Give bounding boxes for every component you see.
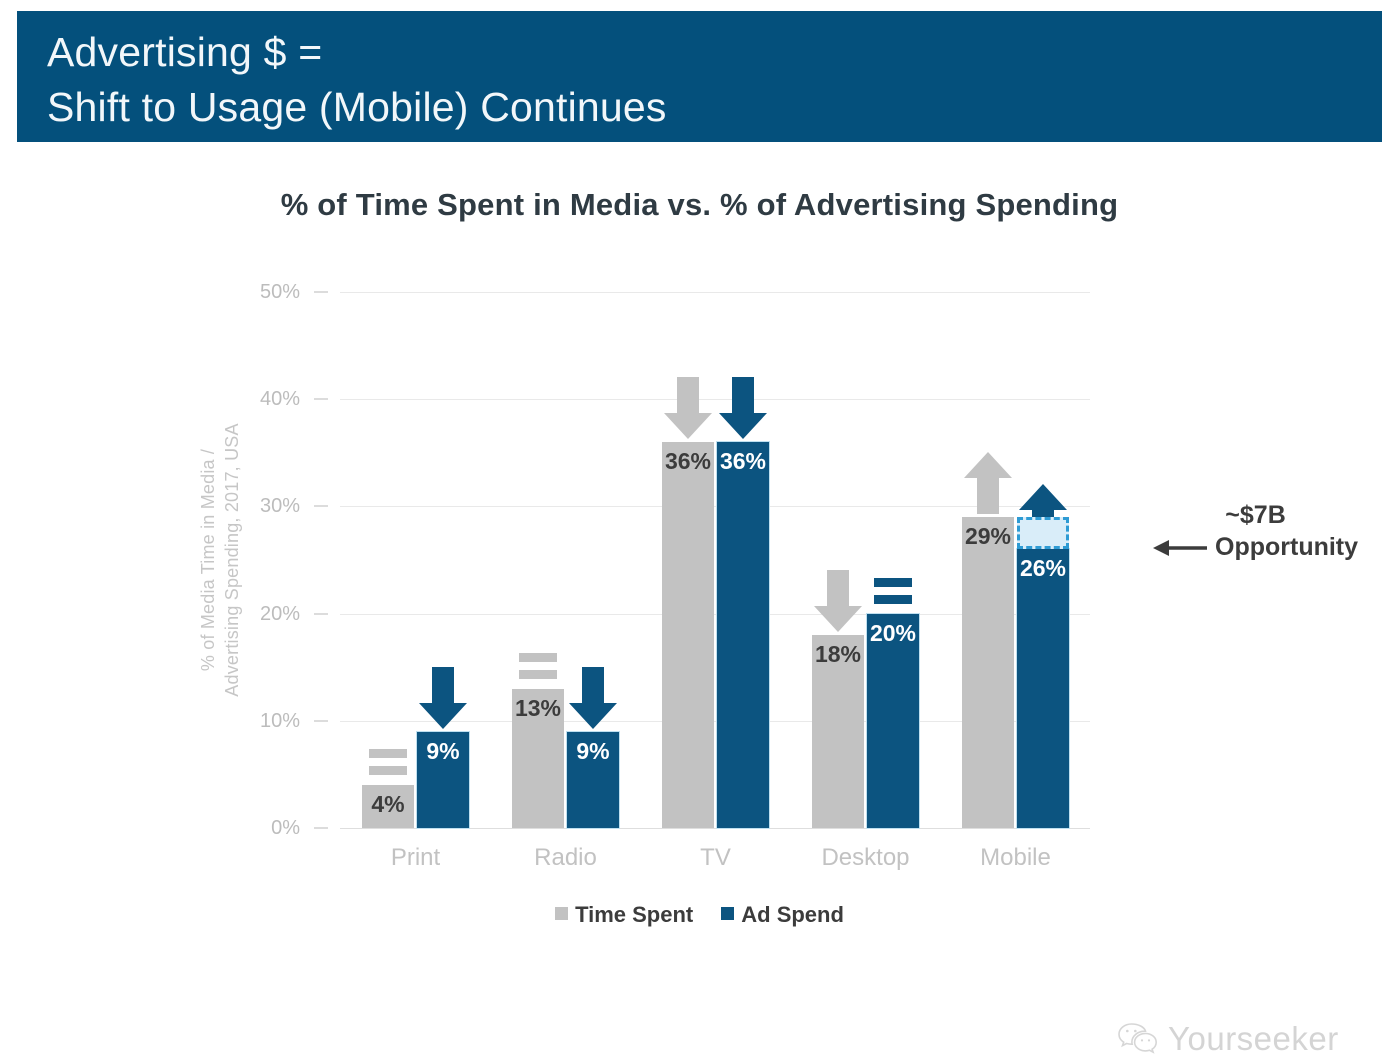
bar-value-label: 36% [662,448,714,475]
gridline-40% [340,399,1090,400]
bar-tv-time-spent[interactable]: 36% [662,442,714,828]
legend-swatch [555,907,568,920]
equals-icon [874,578,912,608]
bar-desktop-ad-spend[interactable]: 20% [867,614,919,828]
bar-value-label: 29% [962,523,1014,550]
y-tick-dash [314,827,328,829]
x-axis-label-desktop: Desktop [786,844,946,872]
opportunity-annotation: ~$7BOpportunity [1153,499,1358,563]
equals-icon [369,749,407,779]
arrow-down-icon [814,570,862,632]
y-tick-label: 40% [230,388,300,411]
bar-radio-ad-spend[interactable]: 9% [567,732,619,828]
opportunity-amount: ~$7B [1153,499,1358,531]
bar-desktop-time-spent[interactable]: 18% [812,635,864,828]
bar-radio-time-spent[interactable]: 13% [512,689,564,828]
bar-value-label: 9% [417,738,469,765]
watermark-text: Yourseeker [1168,1020,1339,1058]
y-tick-label: 30% [230,495,300,518]
bar-value-label: 9% [567,738,619,765]
bar-print-time-spent[interactable]: 4% [362,785,414,828]
y-tick-label: 0% [230,817,300,840]
watermark: Yourseeker [1118,1020,1339,1058]
bar-value-label: 36% [717,448,769,475]
gridline-50% [340,292,1090,293]
legend-swatch [721,907,734,920]
legend-item-time-spent[interactable]: Time Spent [555,902,693,928]
bar-value-label: 13% [512,695,564,722]
header-banner: Advertising $ = Shift to Usage (Mobile) … [17,11,1382,142]
y-tick-dash [314,613,328,615]
arrow-left-icon [1153,538,1209,558]
legend-item-ad-spend[interactable]: Ad Spend [721,902,844,928]
arrow-down-icon [569,667,617,729]
y-axis-label-wrap: % of Media Time in Media / Advertising S… [196,292,256,828]
legend-label: Ad Spend [741,902,844,927]
bar-print-ad-spend[interactable]: 9% [417,732,469,828]
wechat-icon [1118,1022,1158,1056]
opportunity-label-row: Opportunity [1153,531,1358,563]
y-tick-dash [314,291,328,293]
bar-mobile-ad-spend[interactable]: 26% [1017,549,1069,828]
bar-mobile-time-spent[interactable]: 29% [962,517,1014,828]
arrow-down-icon [664,377,712,439]
bar-value-label: 26% [1017,555,1069,582]
arrow-down-icon [419,667,467,729]
plot-area: 0%10%20%30%40%50%4%9%Print13%9%Radio36%3… [340,292,1090,828]
opportunity-label: Opportunity [1215,533,1358,561]
chart-container: % of Time Spent in Media vs. % of Advert… [0,142,1399,960]
y-tick-dash [314,398,328,400]
y-tick-dash [314,720,328,722]
y-tick-label: 50% [230,281,300,304]
page-title: Advertising $ = Shift to Usage (Mobile) … [47,25,667,135]
y-tick-label: 10% [230,710,300,733]
x-axis-label-radio: Radio [486,844,646,872]
opportunity-box[interactable] [1017,517,1069,549]
chart-title: % of Time Spent in Media vs. % of Advert… [0,187,1399,223]
arrow-down-icon [719,377,767,439]
legend-label: Time Spent [575,902,693,927]
bar-value-label: 20% [867,620,919,647]
x-axis-label-print: Print [336,844,496,872]
equals-icon [519,653,557,683]
x-axis-label-mobile: Mobile [936,844,1096,872]
chart-legend: Time SpentAd Spend [0,902,1399,928]
gridline-0% [340,828,1090,829]
y-tick-dash [314,505,328,507]
y-tick-label: 20% [230,603,300,626]
bar-value-label: 4% [362,791,414,818]
x-axis-label-tv: TV [636,844,796,872]
bar-value-label: 18% [812,641,864,668]
y-axis-label: % of Media Time in Media / Advertising S… [196,300,244,820]
arrow-up-icon [964,452,1012,514]
bar-tv-ad-spend[interactable]: 36% [717,442,769,828]
